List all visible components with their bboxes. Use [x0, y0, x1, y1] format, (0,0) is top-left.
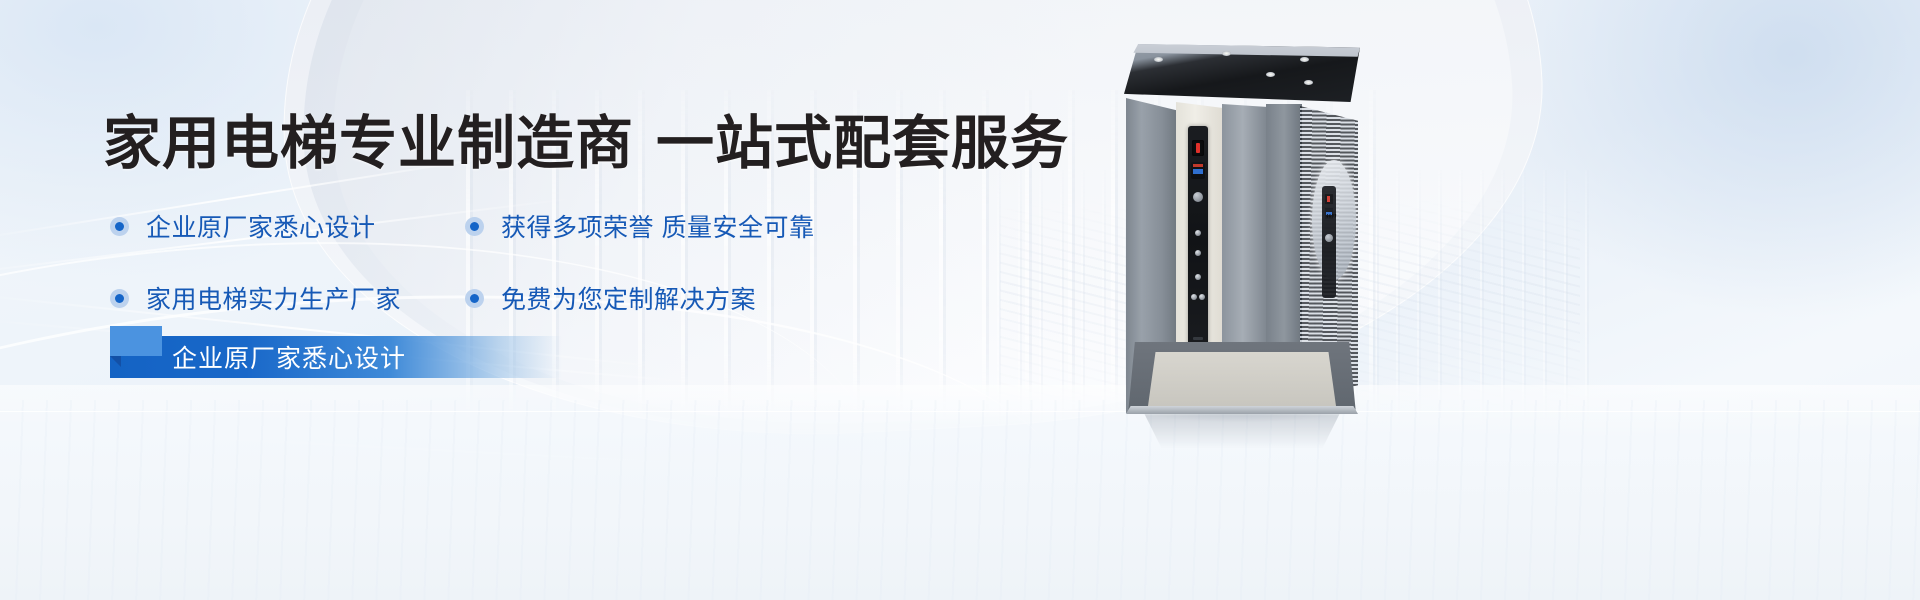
feature-item-2: 获得多项荣誉 质量安全可靠 [465, 208, 814, 244]
highlight-ribbon: 企业原厂家悉心设计 [110, 336, 562, 378]
feature-item-4: 免费为您定制解决方案 [465, 280, 756, 316]
bullet-dot-icon [465, 289, 484, 308]
feature-label: 企业原厂家悉心设计 [146, 208, 376, 244]
bullet-dot-icon [110, 289, 129, 308]
feature-list: 企业原厂家悉心设计 获得多项荣誉 质量安全可靠 家用电梯实力生产厂家 免费为您定… [110, 208, 990, 316]
feature-label: 家用电梯实力生产厂家 [146, 280, 401, 316]
bullet-dot-icon [110, 217, 129, 236]
banner-stage: 家用电梯专业制造商一站式配套服务 企业原厂家悉心设计 获得多项荣誉 质量安全可靠… [0, 0, 1920, 600]
feature-label: 免费为您定制解决方案 [501, 280, 756, 316]
feature-item-1: 企业原厂家悉心设计 [110, 208, 465, 244]
bullet-dot-icon [465, 217, 484, 236]
title-part-1: 家用电梯专业制造商 [103, 111, 634, 176]
ribbon-label: 企业原厂家悉心设计 [172, 339, 406, 375]
feature-row: 家用电梯实力生产厂家 免费为您定制解决方案 [110, 280, 990, 316]
feature-item-3: 家用电梯实力生产厂家 [110, 280, 465, 316]
feature-row: 企业原厂家悉心设计 获得多项荣誉 质量安全可靠 [110, 208, 990, 244]
feature-label: 获得多项荣誉 质量安全可靠 [501, 208, 814, 244]
ribbon-fold-tab-icon [110, 326, 162, 356]
page-title: 家用电梯专业制造商一站式配套服务 [103, 112, 1069, 177]
banner-content: 家用电梯专业制造商一站式配套服务 企业原厂家悉心设计 获得多项荣誉 质量安全可靠… [0, 0, 1920, 600]
title-part-2: 一站式配套服务 [656, 111, 1069, 176]
